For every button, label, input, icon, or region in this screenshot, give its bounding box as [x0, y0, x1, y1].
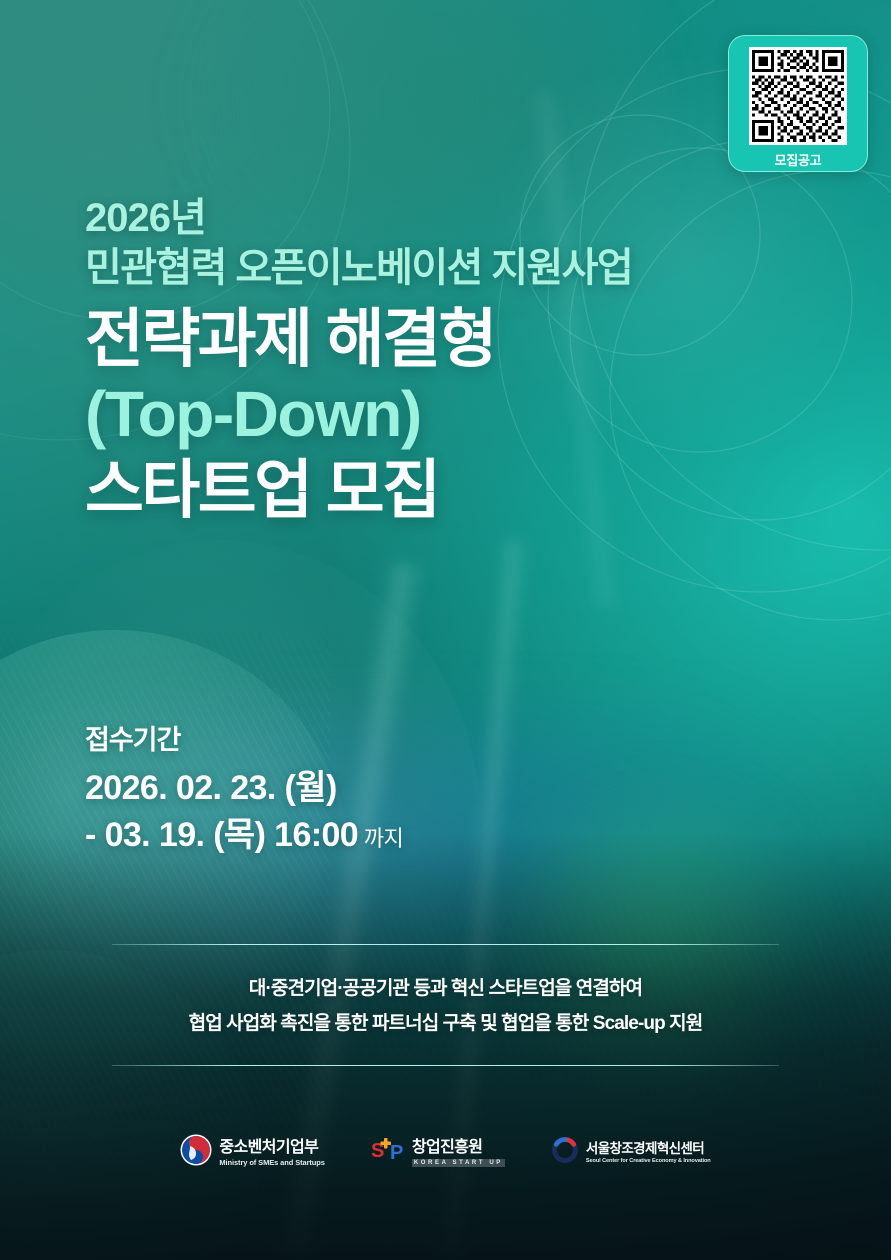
- logo-seoul-ko: 서울창조경제혁신센터: [586, 1137, 711, 1157]
- period-start: 2026. 02. 23. (월): [85, 766, 403, 811]
- title-year: 2026년: [85, 196, 845, 241]
- logo-ministry-ko: 중소벤처기업부: [219, 1133, 324, 1157]
- taegeuk-icon: [180, 1134, 212, 1166]
- logo-ministry-sme-startups: 중소벤처기업부 Ministry of SMEs and Startups: [180, 1133, 324, 1167]
- qr-badge[interactable]: 모집공고: [728, 35, 868, 172]
- description-line-2: 협업 사업화 촉진을 통한 파트너십 구축 및 협업을 통한 Scale-up …: [112, 1006, 779, 1041]
- period-end-row: - 03. 19. (목) 16:00 까지: [85, 813, 403, 858]
- period-end: - 03. 19. (목) 16:00: [85, 816, 358, 854]
- ring-icon: [551, 1136, 579, 1164]
- page-title: 2026년 민관협력 오픈이노베이션 지원사업 전략과제 해결형 (Top-Do…: [85, 196, 845, 526]
- logo-seoul-text: 서울창조경제혁신센터 Seoul Center for Creative Eco…: [586, 1137, 711, 1164]
- logo-kised-text: 창업진흥원 KOREA START UP: [412, 1133, 505, 1167]
- title-main-line-1: 전략과제 해결형: [85, 304, 845, 376]
- sup-icon: S P: [371, 1136, 405, 1164]
- title-main-line-3: 스타트업 모집: [85, 455, 845, 527]
- description-lines: 대·중견기업·공공기관 등과 혁신 스타트업을 연결하여 협업 사업화 촉진을 …: [112, 945, 779, 1065]
- recruitment-poster: 모집공고 2026년 민관협력 오픈이노베이션 지원사업 전략과제 해결형 (T…: [0, 0, 891, 1260]
- description-block: 대·중견기업·공공기관 등과 혁신 스타트업을 연결하여 협업 사업화 촉진을 …: [112, 944, 779, 1066]
- qr-code-icon[interactable]: [749, 47, 847, 145]
- svg-text:P: P: [390, 1142, 403, 1164]
- divider-bottom: [112, 1065, 779, 1066]
- logo-kised-ko: 창업진흥원: [412, 1133, 505, 1157]
- application-period: 접수기간 2026. 02. 23. (월) - 03. 19. (목) 16:…: [85, 718, 403, 858]
- logo-kised: S P 창업진흥원 KOREA START UP: [371, 1133, 505, 1167]
- logo-seoul-en: Seoul Center for Creative Economy & Inno…: [586, 1158, 711, 1164]
- logo-ministry-text: 중소벤처기업부 Ministry of SMEs and Startups: [219, 1133, 324, 1167]
- title-main-line-2: (Top-Down): [85, 378, 845, 451]
- period-label: 접수기간: [85, 718, 403, 757]
- title-program: 민관협력 오픈이노베이션 지원사업: [85, 245, 845, 292]
- organizer-logos: 중소벤처기업부 Ministry of SMEs and Startups S …: [0, 1133, 891, 1167]
- logo-seoul-ccei: 서울창조경제혁신센터 Seoul Center for Creative Eco…: [551, 1136, 711, 1164]
- logo-kised-en: KOREA START UP: [412, 1159, 505, 1167]
- logo-ministry-en: Ministry of SMEs and Startups: [219, 1158, 324, 1167]
- qr-badge-label: 모집공고: [775, 150, 822, 169]
- period-end-suffix: 까지: [358, 826, 403, 851]
- description-line-1: 대·중견기업·공공기관 등과 혁신 스타트업을 연결하여: [112, 971, 779, 1006]
